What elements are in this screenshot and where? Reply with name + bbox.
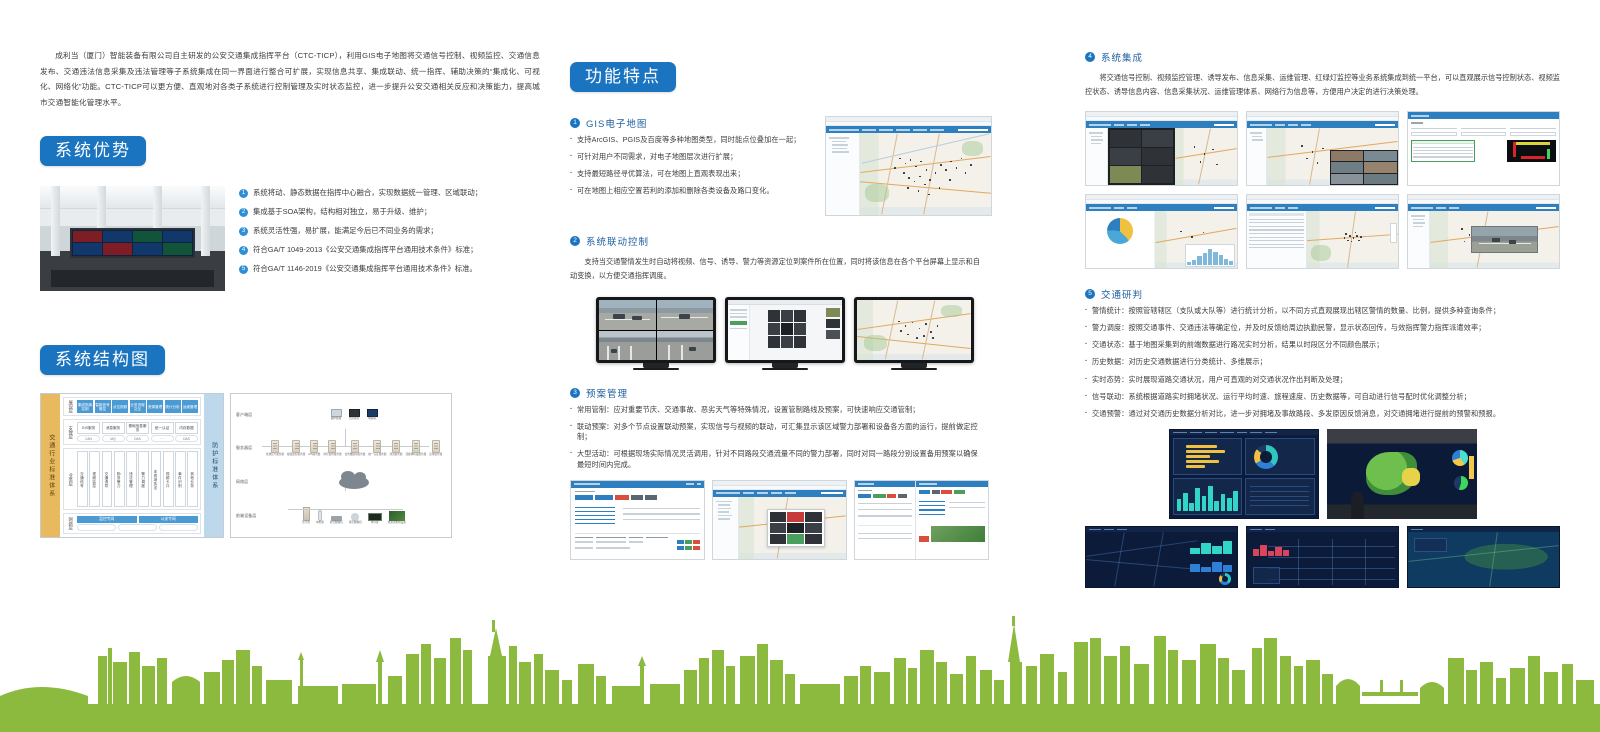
topology-node: 视频监控服务器 bbox=[287, 440, 305, 457]
list-item-text: 符合GA/T 1146-2019《公安交通集成指挥平台通用技术条件》标准。 bbox=[253, 264, 477, 274]
topology-row-field-devices: 前端设备层 信号机 车检器 枪型摄像机 bbox=[236, 500, 446, 534]
architecture-diagram: 交通行业标准体系 展现层 集成指挥控制 智能信号管控 点位视频 业务流程交互 资… bbox=[40, 393, 224, 538]
server-icon bbox=[310, 440, 318, 453]
server-icon bbox=[412, 440, 420, 453]
node-label: 消息服务器 bbox=[389, 453, 402, 456]
server-icon bbox=[292, 440, 300, 453]
live-video-overlay[interactable] bbox=[1471, 226, 1538, 253]
protocol-chip: DAS bbox=[175, 435, 198, 442]
list-item: 可针对用户不同需求，对电子地图层次进行扩展； bbox=[570, 152, 815, 162]
pie-chart bbox=[1107, 218, 1133, 244]
tier-network: 网络层 监控专网 公安专网 bbox=[63, 513, 201, 534]
row-label: 客户端层 bbox=[236, 413, 262, 418]
bullet-number: 2 bbox=[239, 208, 248, 217]
list-item: 信号联动：系统根据道路实时拥堵状况、运行平均时速、旅程速度、历史数据等，可自动进… bbox=[1085, 392, 1560, 402]
list-item-text: 系统灵活性强，易扩展，能满足今后已不同业务的需求； bbox=[253, 226, 438, 236]
node-label: 枪型摄像机 bbox=[330, 521, 343, 524]
topology-node: 业务数据库服务器 bbox=[345, 440, 366, 457]
advantages-list: 1 系统将动、静态数据在指挥中心融合，实现数据统一管理、区域联动； 2 集成基于… bbox=[239, 186, 540, 283]
node-label: 应用服务器 bbox=[429, 453, 442, 456]
panel-donut bbox=[1245, 438, 1315, 475]
node-label: 电视墙 bbox=[368, 417, 376, 420]
list-item: 交通状态：基于地图采集到的前端数据进行路况实时分析，结果以时段区分不同颜色展示； bbox=[1085, 340, 1560, 350]
presenter-silhouette bbox=[1351, 492, 1365, 519]
map-canvas[interactable] bbox=[860, 133, 991, 215]
app-navbar bbox=[826, 126, 991, 133]
bullet-number: 3 bbox=[239, 227, 248, 236]
network-chip bbox=[118, 524, 157, 531]
section-title: 交通研判 bbox=[1101, 287, 1143, 301]
topology-node: 大屏拼控 bbox=[349, 409, 360, 421]
tree-pane[interactable] bbox=[713, 497, 739, 559]
list-item: 支持ArcGIS、PGIS及百度等多种地图类型，同时能点位叠加在一起； bbox=[570, 135, 815, 145]
map-legend bbox=[1390, 223, 1397, 244]
intersection-popup[interactable] bbox=[767, 509, 825, 547]
topology-node: 诱导屏 bbox=[368, 508, 382, 525]
screenshot-plan-detail[interactable] bbox=[854, 480, 989, 560]
node-label: 操作终端 bbox=[331, 417, 341, 420]
protocol-chip: CAN bbox=[77, 435, 100, 442]
screenshot-plan-form[interactable] bbox=[570, 480, 705, 560]
screen bbox=[599, 300, 713, 360]
network-band: 公安专网 bbox=[139, 516, 199, 523]
list-item: 实时态势：实时展现道路交通状况，用户可直观的对交通状况作出判断及处理； bbox=[1085, 375, 1560, 385]
feature-heading: 1 GIS电子地图 bbox=[570, 116, 815, 130]
bullet-number: 4 bbox=[239, 246, 248, 255]
tree-pane[interactable] bbox=[826, 133, 860, 215]
topology-node: 诱导发布服务器 bbox=[323, 440, 341, 457]
node-label: 诱导发布服务器 bbox=[323, 453, 341, 456]
dashboard-city-network-1[interactable] bbox=[1085, 526, 1238, 588]
topology-node: 统一认证服务器 bbox=[368, 440, 386, 457]
control-room-photo bbox=[40, 186, 225, 291]
topology-row-network: 网络层 bbox=[236, 466, 446, 500]
monitor-base bbox=[633, 368, 679, 370]
module-cell: 业务流程交互 bbox=[130, 400, 146, 413]
tier-label: 展现层 bbox=[66, 400, 75, 413]
topology-node: GIS服务器 bbox=[308, 440, 320, 457]
feature-block-gis: 1 GIS电子地图 支持ArcGIS、PGIS及百度等多种地图类型，同时能点位叠… bbox=[570, 116, 1000, 216]
screenshot-live-video-map[interactable] bbox=[1407, 194, 1560, 269]
list-item: 大型活动：可根据现场实际情况灵活调用，针对不同路段交通流量不同的警力部署，同时对… bbox=[570, 449, 985, 469]
feature-heading: 5 交通研判 bbox=[1085, 287, 1560, 301]
feature-heading: 2 系统联动控制 bbox=[570, 234, 1000, 248]
tier-label: 支撑层 bbox=[66, 422, 75, 442]
topology-node bbox=[339, 476, 369, 489]
list-item: 常用管制：应对重要节庆、交通事故、恶劣天气等特殊情况，设置管制路线及预案，可快速… bbox=[570, 405, 985, 415]
standards-band-right: 防护标准体系 bbox=[204, 394, 223, 537]
module-cell: 智能信号管控 bbox=[95, 400, 111, 413]
vehicle-detector-icon bbox=[318, 510, 322, 521]
monitor-base bbox=[891, 368, 937, 370]
section-title: GIS电子地图 bbox=[586, 116, 647, 130]
node-label: 统一认证服务器 bbox=[368, 453, 386, 456]
province-map-highlight bbox=[1402, 468, 1420, 486]
connector bbox=[262, 446, 429, 447]
topology-node: 交通流检测设备 bbox=[388, 508, 406, 525]
dashboard-satellite-map[interactable] bbox=[1407, 526, 1560, 588]
module-cell: 交通诱导 bbox=[102, 451, 113, 507]
list-item: 5 符合GA/T 1146-2019《公安交通集成指挥平台通用技术条件》标准。 bbox=[239, 264, 540, 274]
module-cell: 非现场执法 bbox=[151, 451, 162, 507]
topology-row-clients: 客户端层 操作终端 大屏拼控 电视墙 bbox=[236, 398, 446, 432]
feature-block-integration: 4 系统集成 将交通信号控制、视频监控管理、诱导发布、信息采集、运维管理、红绿灯… bbox=[1085, 50, 1560, 269]
gauge bbox=[1454, 476, 1468, 490]
camera-tile bbox=[599, 330, 713, 361]
list-item-text: 符合GA/T 1049-2013《公安交通集成指挥平台通用技术条件》标准； bbox=[253, 245, 478, 255]
list-item: 历史数据：对历史交通数据进行分类统计、多维展示； bbox=[1085, 357, 1560, 367]
topology-node: 球型摄像机 bbox=[349, 508, 362, 525]
operator-desk bbox=[51, 270, 214, 287]
module-cell: 资源管理 bbox=[147, 400, 163, 413]
screenshot-phase-config[interactable] bbox=[1407, 111, 1560, 186]
module-cell: 事件识别 bbox=[175, 451, 186, 507]
topology-row-servers: 服务器层 交通信号服务器 视频监控服务器 GIS服务器 诱导发布服务器 业务数据… bbox=[236, 432, 446, 466]
cloud-icon bbox=[339, 476, 369, 489]
node-label: 交通信号服务器 bbox=[266, 453, 284, 456]
section-heading-system-structure: 系统结构图 bbox=[40, 345, 165, 375]
list-item-text: 集成基于SOA架构，结构相对独立，易于升级、维护； bbox=[253, 207, 431, 217]
module-cell: 视频卡口 bbox=[163, 451, 174, 507]
network-chip bbox=[77, 524, 116, 531]
list-item: 3 系统灵活性强，易扩展，能满足今后已不同业务的需求； bbox=[239, 226, 540, 236]
topology-node: 枪型摄像机 bbox=[330, 509, 343, 525]
list-item: 可在地图上相应空置若利的添加和删除各类设备及路口变化。 bbox=[570, 186, 815, 196]
linkage-paragraph: 支持当交通警情发生时自动将视频、信号、诱导、警力等资源定位到案件所在位置，同时将… bbox=[570, 255, 980, 283]
module-cell: GIS服务 bbox=[77, 422, 100, 434]
module-cell: 统计分析 bbox=[165, 400, 181, 413]
module-cell: 消息服务 bbox=[102, 422, 125, 434]
panel-horizontal-bars bbox=[1173, 438, 1243, 475]
traffic-flow-detector-icon bbox=[389, 511, 405, 521]
node-label: 流媒体转发服务器 bbox=[405, 453, 426, 456]
monitor-camera-feeds[interactable] bbox=[596, 297, 716, 370]
tier-label: 业务层 bbox=[66, 451, 75, 507]
network-band: 监控专网 bbox=[77, 516, 137, 523]
topology-node: 交通信号服务器 bbox=[266, 440, 284, 457]
section-title: 系统联动控制 bbox=[586, 234, 649, 248]
network-subrow bbox=[77, 524, 198, 531]
module-cell: 勤务警力 bbox=[114, 451, 125, 507]
pillar bbox=[201, 186, 210, 255]
panel-info bbox=[1414, 538, 1447, 551]
screenshot-gis-map[interactable] bbox=[825, 116, 992, 216]
topology-node: 流媒体转发服务器 bbox=[405, 440, 426, 457]
node-label: 大屏拼控 bbox=[349, 417, 359, 420]
video-wall bbox=[70, 228, 196, 257]
pillar bbox=[51, 186, 60, 255]
tv-wall-icon bbox=[367, 409, 378, 417]
feature-block-linkage: 2 系统联动控制 支持当交通警情发生时自动将视频、信号、诱导、警力等资源定位到案… bbox=[570, 234, 1000, 370]
module-cell: 其他业务 bbox=[187, 451, 198, 507]
right-column: 4 系统集成 将交通信号控制、视频监控管理、诱导发布、信息采集、运维管理、红绿灯… bbox=[1085, 0, 1560, 588]
module-cell: 内存数据 bbox=[175, 422, 198, 434]
tier-business: 业务层 交通信号 视频监控 交通诱导 勤务警力 违法管理 警力调度 非现场执法 … bbox=[63, 448, 201, 510]
row-label: 前端设备层 bbox=[236, 514, 262, 519]
diagrams-row: 交通行业标准体系 展现层 集成指挥控制 智能信号管控 点位视频 业务流程交互 资… bbox=[40, 393, 540, 538]
module-cell: 违法管理 bbox=[126, 451, 137, 507]
list-item: 警情统计：按照管辖辖区（支队或大队等）进行统计分析，以不同方式直观展现出辖区警情… bbox=[1085, 306, 1560, 316]
camera-tile bbox=[599, 300, 713, 330]
connector bbox=[288, 509, 402, 510]
section-number: 4 bbox=[1085, 52, 1095, 62]
screenshot-statistics-pie[interactable] bbox=[1085, 194, 1238, 269]
section-number: 1 bbox=[570, 118, 580, 128]
plan-screenshots-row bbox=[570, 480, 1000, 560]
brochure-page: 成利当（厦门）智能装备有限公司自主研发的公安交通集成指挥平台（CTC-TICP）… bbox=[0, 0, 1600, 732]
integration-screenshot-grid bbox=[1085, 111, 1560, 269]
list-item: 4 符合GA/T 1049-2013《公安交通集成指挥平台通用技术条件》标准； bbox=[239, 245, 540, 255]
node-label: 车检器 bbox=[316, 521, 324, 524]
topology-node: 电视墙 bbox=[367, 409, 378, 421]
plan-bullet-list: 常用管制：应对重要节庆、交通事故、恶劣天气等特殊情况，设置管制路线及预案，可快速… bbox=[570, 405, 985, 469]
feature-heading: 3 预案管理 bbox=[570, 386, 1000, 400]
module-cell: 点位视频 bbox=[112, 400, 128, 413]
network-chip bbox=[159, 524, 198, 531]
node-label: GIS服务器 bbox=[308, 453, 320, 456]
section-number: 5 bbox=[1085, 289, 1095, 299]
list-item: 2 集成基于SOA架构，结构相对独立，易于升级、维护； bbox=[239, 207, 540, 217]
topology-node: 信号机 bbox=[302, 507, 310, 525]
tier-support: 支撑层 GIS服务 消息服务 基础信息服务 统一认证 内存数据 CAN bbox=[63, 419, 201, 445]
module-cell: 警力调度 bbox=[138, 451, 149, 507]
screen bbox=[857, 300, 971, 360]
tier-presentation: 展现层 集成指挥控制 智能信号管控 点位视频 业务流程交互 资源管理 统计分析 … bbox=[63, 397, 201, 416]
map-canvas[interactable] bbox=[739, 497, 846, 559]
node-label: 视频监控服务器 bbox=[287, 453, 305, 456]
monitor-base bbox=[762, 368, 808, 370]
tier-label: 网络层 bbox=[66, 516, 75, 531]
list-item: 1 系统将动、静态数据在指挥中心融合，实现数据统一管理、区域联动； bbox=[239, 188, 540, 198]
screenshot-signal-control[interactable] bbox=[1085, 111, 1238, 186]
network-topology-diagram: 客户端层 操作终端 大屏拼控 电视墙 bbox=[230, 393, 452, 538]
app-body bbox=[826, 133, 991, 215]
dashboard-row-bottom bbox=[1085, 526, 1560, 588]
server-icon bbox=[271, 440, 279, 453]
feature-block-plan-management: 3 预案管理 常用管制：应对重要节庆、交通事故、恶劣天气等特殊情况，设置管制路线… bbox=[570, 386, 1000, 559]
panel-data-table bbox=[1245, 478, 1315, 515]
screenshot-device-list-map[interactable] bbox=[1246, 194, 1399, 269]
bullet-number: 1 bbox=[239, 189, 248, 198]
module-cell: 视频监控 bbox=[89, 451, 100, 507]
module-cell: 集成指挥控制 bbox=[77, 400, 93, 413]
protocol-chip: ··· bbox=[151, 435, 174, 442]
node-label: 交通流检测设备 bbox=[388, 521, 406, 524]
screenshot-video-monitor[interactable] bbox=[1246, 111, 1399, 186]
node-label: 信号机 bbox=[302, 521, 310, 524]
bar-indicator bbox=[1469, 456, 1474, 479]
node-label: 诱导屏 bbox=[371, 521, 379, 524]
traffic-analysis-bullet-list: 警情统计：按照管辖辖区（支队或大队等）进行统计分析，以不同方式直观展现出辖区警情… bbox=[1085, 306, 1560, 419]
connector bbox=[345, 429, 346, 446]
section-number: 3 bbox=[570, 388, 580, 398]
list-item-text: 系统将动、静态数据在指挥中心融合，实现数据统一管理、区域联动； bbox=[253, 188, 482, 198]
module-cell: 统一认证 bbox=[151, 422, 174, 434]
panel-controls bbox=[1253, 567, 1280, 584]
feature-heading: 4 系统集成 bbox=[1085, 50, 1560, 64]
screenshot-plan-map[interactable] bbox=[712, 480, 847, 560]
app-body bbox=[713, 497, 846, 559]
server-icon bbox=[373, 440, 381, 453]
topology-node: 应用服务器 bbox=[429, 440, 442, 457]
module-cell: 交通信号 bbox=[77, 451, 88, 507]
server-icon bbox=[328, 440, 336, 453]
gauge bbox=[1452, 450, 1468, 466]
monitors-row bbox=[570, 297, 1000, 370]
bar-chart-popup bbox=[1185, 244, 1236, 267]
support-protocols: CAN MQ DAS ··· DAS bbox=[77, 435, 198, 442]
module-cell: 基础信息服务 bbox=[126, 422, 149, 434]
topology-node: 操作终端 bbox=[331, 409, 342, 421]
server-icon bbox=[392, 440, 400, 453]
topology-node: 消息服务器 bbox=[389, 440, 402, 457]
network-bands: 监控专网 公安专网 bbox=[77, 516, 198, 523]
dialog-titlebar bbox=[571, 481, 704, 488]
middle-column: 功能特点 1 GIS电子地图 支持ArcGIS、PGIS及百度等多种地图类型，同… bbox=[570, 0, 1000, 560]
intro-paragraph: 成利当（厦门）智能装备有限公司自主研发的公安交通集成指挥平台（CTC-TICP）… bbox=[40, 48, 540, 110]
left-column: 成利当（厦门）智能装备有限公司自主研发的公安交通集成指挥平台（CTC-TICP）… bbox=[40, 0, 540, 538]
monitor-gis-map[interactable] bbox=[854, 297, 974, 370]
map-markers bbox=[860, 133, 991, 215]
city-skyline-footer bbox=[0, 600, 1600, 732]
list-item: 支持最短路径寻优算法，可在地图上直观表现出来； bbox=[570, 169, 815, 179]
list-item: 交通预警：通过对交通历史数据分析对比，进一步对拥堵及事故路段、多发原因反馈消息，… bbox=[1085, 409, 1560, 419]
screen bbox=[728, 300, 842, 360]
section-title: 预案管理 bbox=[586, 386, 628, 400]
section-number: 2 bbox=[570, 236, 580, 246]
topology-node: 车检器 bbox=[316, 507, 324, 525]
wall-controller-icon bbox=[349, 409, 360, 417]
device-list-pane[interactable] bbox=[1247, 211, 1307, 268]
dashboard-analytics[interactable] bbox=[1169, 429, 1319, 519]
server-icon bbox=[351, 440, 359, 453]
section-heading-system-advantages: 系统优势 bbox=[40, 136, 146, 166]
dashboard-city-network-2[interactable] bbox=[1246, 526, 1399, 588]
monitor-intersection-control[interactable] bbox=[725, 297, 845, 370]
protocol-chip: MQ bbox=[102, 435, 125, 442]
protocol-chip: DAS bbox=[126, 435, 149, 442]
app-navbar bbox=[713, 490, 846, 497]
ceiling bbox=[40, 186, 225, 209]
node-label: 业务数据库服务器 bbox=[345, 453, 366, 456]
row-label: 服务器层 bbox=[236, 446, 262, 451]
workstation-icon bbox=[331, 409, 342, 417]
dashboard-row-top bbox=[1085, 429, 1560, 519]
bullet-number: 5 bbox=[239, 265, 248, 274]
integration-paragraph: 将交通信号控制、视频监控管理、诱导发布、信息采集、运维管理、红绿灯监控等业务系统… bbox=[1085, 71, 1560, 99]
list-item: 联动预案：对多个节点设置联动预案，实现信号与视频的联动，可汇集显示该区域警力部署… bbox=[570, 422, 985, 442]
row-label: 网络层 bbox=[236, 480, 262, 485]
list-item: 警力调度：按照交通事件、交通违法等确定位，并及时反馈给周边执勤民警，显示状态回传… bbox=[1085, 323, 1560, 333]
panel-vertical-bars bbox=[1173, 478, 1243, 515]
gis-bullet-list: 支持ArcGIS、PGIS及百度等多种地图类型，同时能点位叠加在一起； 可针对用… bbox=[570, 135, 815, 196]
server-icon bbox=[432, 440, 440, 453]
standards-band-left: 交通行业标准体系 bbox=[41, 394, 60, 537]
section-title: 系统集成 bbox=[1101, 50, 1143, 64]
node-label: 球型摄像机 bbox=[349, 521, 362, 524]
feature-block-traffic-analysis: 5 交通研判 警情统计：按照管辖辖区（支队或大队等）进行统计分析，以不同方式直观… bbox=[1085, 287, 1560, 588]
section-heading-functional-features: 功能特点 bbox=[570, 62, 676, 92]
module-cell: 运维管理 bbox=[182, 400, 198, 413]
photo-big-screen-briefing bbox=[1327, 429, 1477, 519]
video-grid[interactable] bbox=[1330, 150, 1398, 185]
